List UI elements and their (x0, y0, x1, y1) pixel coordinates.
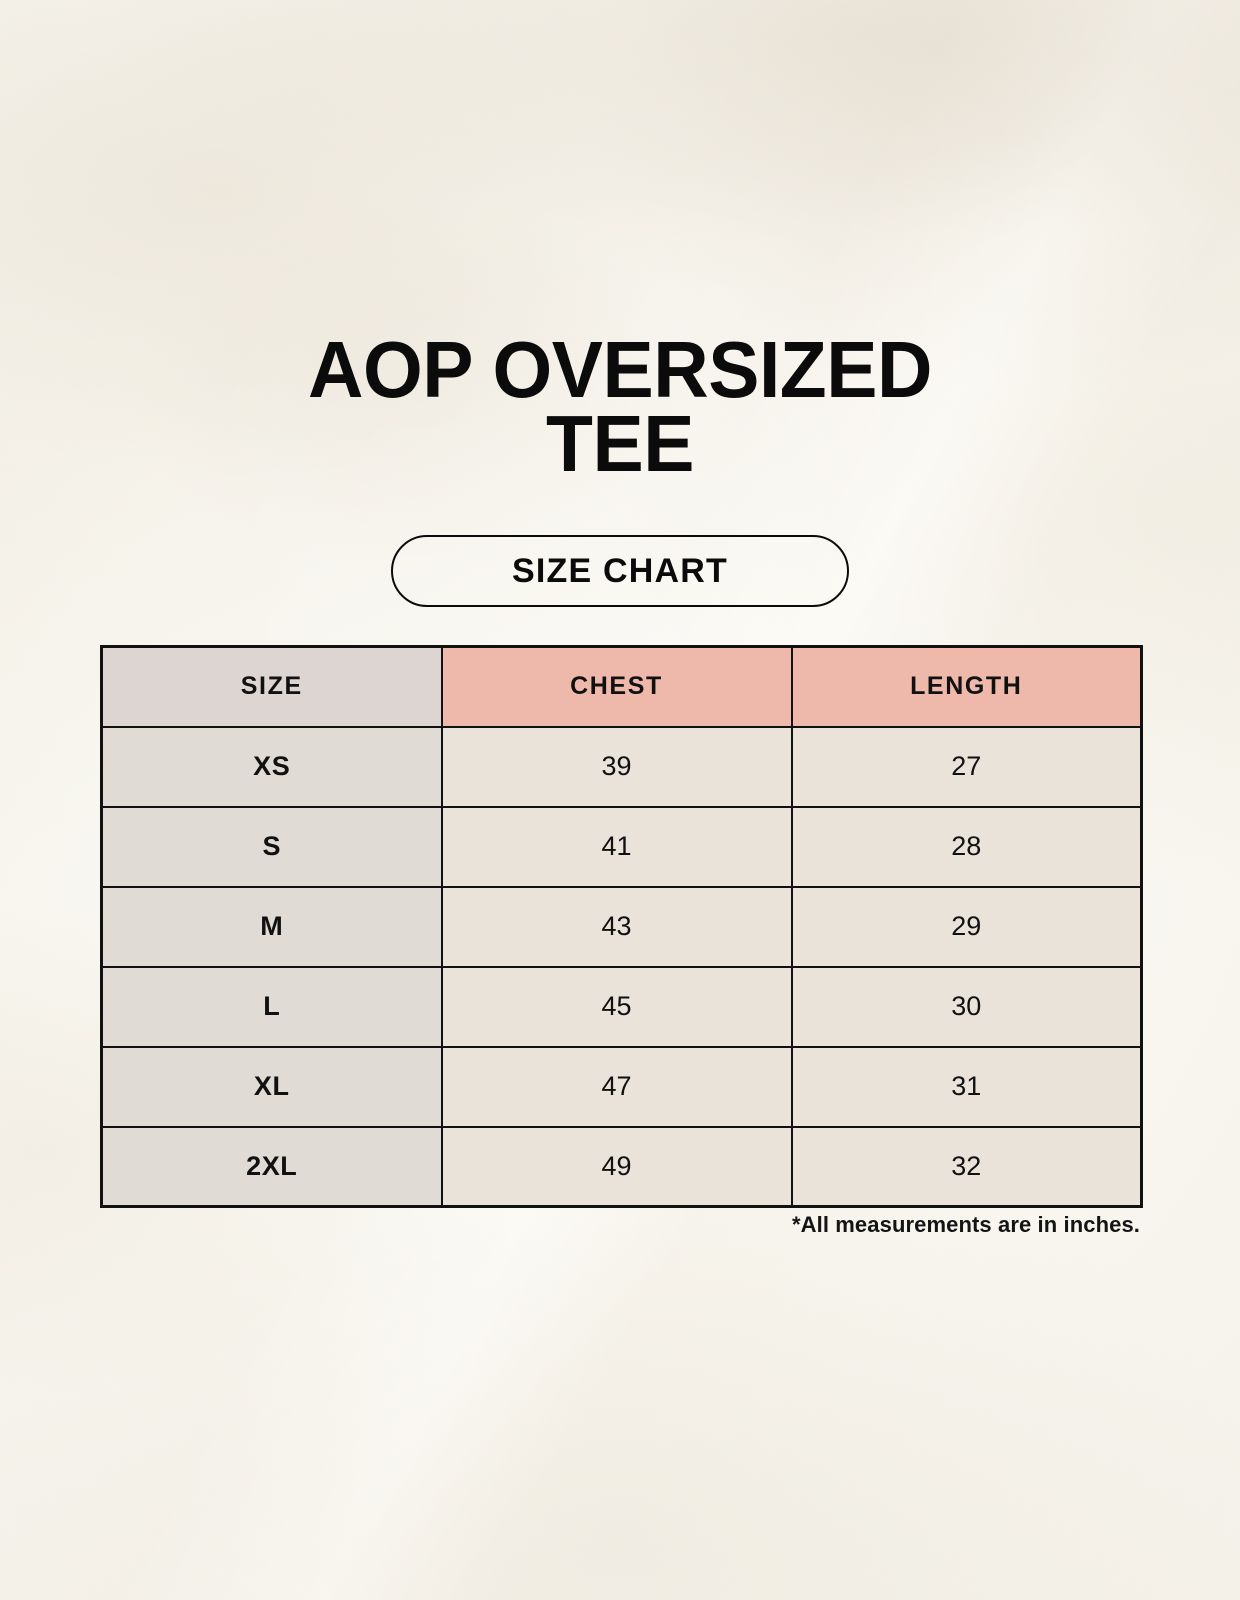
cell-length: 30 (792, 967, 1142, 1047)
cell-chest: 47 (442, 1047, 792, 1127)
cell-chest: 39 (442, 727, 792, 807)
column-header-size: SIZE (102, 647, 442, 727)
cell-chest: 41 (442, 807, 792, 887)
cell-size: L (102, 967, 442, 1047)
table-row: L 45 30 (102, 967, 1142, 1047)
cell-length: 29 (792, 887, 1142, 967)
column-header-length: LENGTH (792, 647, 1142, 727)
size-table-body: XS 39 27 S 41 28 M 43 29 L 45 30 (102, 727, 1142, 1207)
cell-size: XS (102, 727, 442, 807)
size-table-header: SIZE CHEST LENGTH (102, 647, 1142, 727)
cell-length: 27 (792, 727, 1142, 807)
cell-size: 2XL (102, 1127, 442, 1207)
cell-size: XL (102, 1047, 442, 1127)
page-title: AOP OVERSIZED TEE (25, 333, 1215, 482)
table-row: M 43 29 (102, 887, 1142, 967)
measurement-footnote: *All measurements are in inches. (100, 1212, 1140, 1238)
cell-length: 31 (792, 1047, 1142, 1127)
cell-chest: 45 (442, 967, 792, 1047)
table-row: XL 47 31 (102, 1047, 1142, 1127)
cell-size: M (102, 887, 442, 967)
size-table: SIZE CHEST LENGTH XS 39 27 S 41 28 M (100, 645, 1143, 1208)
cell-length: 32 (792, 1127, 1142, 1207)
cell-size: S (102, 807, 442, 887)
column-header-chest: CHEST (442, 647, 792, 727)
size-chart-badge: SIZE CHART (391, 535, 849, 607)
table-header-row: SIZE CHEST LENGTH (102, 647, 1142, 727)
cell-length: 28 (792, 807, 1142, 887)
cell-chest: 49 (442, 1127, 792, 1207)
size-chart-page: AOP OVERSIZED TEE SIZE CHART SIZE CHEST … (0, 0, 1240, 1600)
table-row: XS 39 27 (102, 727, 1142, 807)
cell-chest: 43 (442, 887, 792, 967)
table-row: S 41 28 (102, 807, 1142, 887)
table-row: 2XL 49 32 (102, 1127, 1142, 1207)
size-chart-badge-label: SIZE CHART (512, 552, 728, 591)
size-table-container: SIZE CHEST LENGTH XS 39 27 S 41 28 M (100, 645, 1140, 1208)
